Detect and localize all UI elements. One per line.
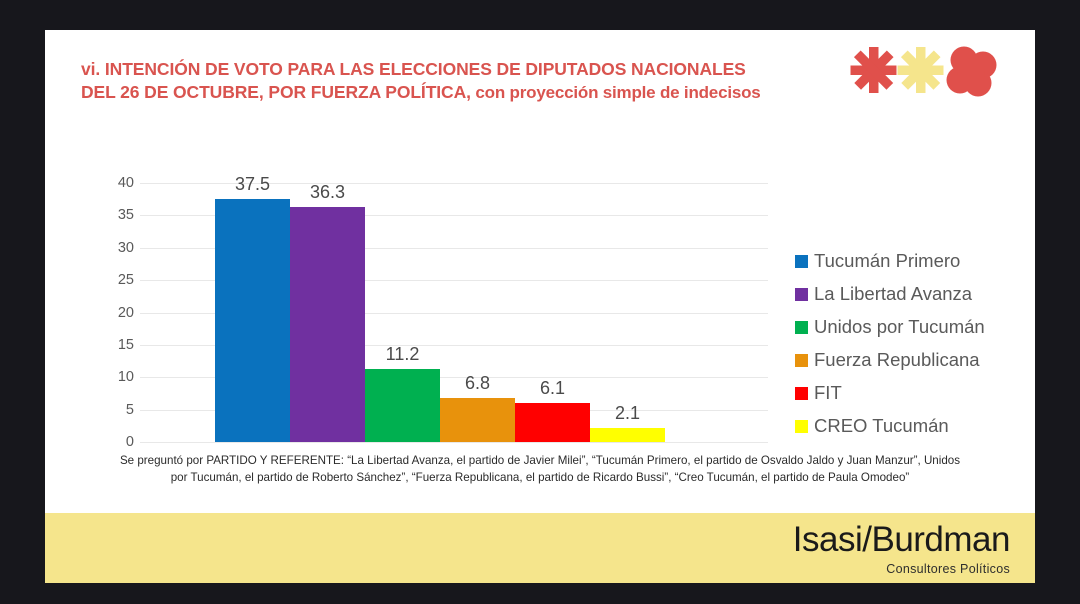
legend-swatch-icon (795, 354, 808, 367)
bar[interactable] (215, 199, 290, 442)
plot-area: 403530252015105037.536.311.26.86.12.1 (140, 183, 768, 442)
legend-item[interactable]: Fuerza Republicana (795, 344, 985, 377)
bar[interactable] (590, 428, 665, 442)
y-axis-tick-label: 5 (94, 403, 134, 418)
bar-slot: 6.1 (515, 183, 590, 442)
legend-item[interactable]: CREO Tucumán (795, 410, 985, 443)
bar[interactable] (365, 369, 440, 442)
legend-item-label: La Libertad Avanza (814, 285, 972, 304)
legend-swatch-icon (795, 288, 808, 301)
page-title: vi. INTENCIÓN DE VOTO PARA LAS ELECCIONE… (81, 58, 871, 104)
bar-chart: 403530252015105037.536.311.26.86.12.1 Tu… (45, 150, 1035, 480)
brand-subtitle: Consultores Políticos (793, 562, 1010, 576)
y-axis-tick-label: 0 (94, 435, 134, 450)
legend-swatch-icon (795, 420, 808, 433)
y-axis-tick-label: 15 (94, 338, 134, 353)
bar-slot: 2.1 (590, 183, 665, 442)
legend-item-label: CREO Tucumán (814, 417, 949, 436)
bar-series: 37.536.311.26.86.12.1 (215, 183, 665, 442)
title-line-1: vi. INTENCIÓN DE VOTO PARA LAS ELECCIONE… (81, 58, 871, 81)
bar-value-label: 2.1 (590, 404, 665, 422)
bar-value-label: 6.8 (440, 374, 515, 392)
bar-slot: 37.5 (215, 183, 290, 442)
bar[interactable] (440, 398, 515, 442)
y-axis-tick-label: 30 (94, 241, 134, 256)
y-axis-tick-label: 25 (94, 273, 134, 288)
legend-item-label: FIT (814, 384, 842, 403)
screenshot-root: vi. INTENCIÓN DE VOTO PARA LAS ELECCIONE… (0, 0, 1080, 604)
legend-swatch-icon (795, 255, 808, 268)
legend-item[interactable]: FIT (795, 377, 985, 410)
brand-block: Isasi/Burdman Consultores Políticos (793, 522, 1010, 576)
legend-item-label: Unidos por Tucumán (814, 318, 985, 337)
y-axis-tick-label: 10 (94, 370, 134, 385)
bar-slot: 6.8 (440, 183, 515, 442)
footer-band: Isasi/Burdman Consultores Políticos (45, 513, 1035, 583)
asterisk-yellow-icon (898, 47, 944, 93)
asterisk-red-icon (851, 47, 897, 93)
title-line-2-rest: con proyección simple de indecisos (471, 83, 761, 102)
legend-swatch-icon (795, 321, 808, 334)
bar-value-label: 36.3 (290, 183, 365, 201)
legend-item[interactable]: Unidos por Tucumán (795, 311, 985, 344)
legend-item-label: Tucumán Primero (814, 252, 960, 271)
title-line-2-bold: DEL 26 DE OCTUBRE, POR FUERZA POLÍTICA, (81, 82, 471, 102)
title-line-2: DEL 26 DE OCTUBRE, POR FUERZA POLÍTICA, … (81, 81, 871, 104)
bar-value-label: 37.5 (215, 175, 290, 193)
legend-item-label: Fuerza Republicana (814, 351, 980, 370)
bar-value-label: 6.1 (515, 379, 590, 397)
legend-swatch-icon (795, 387, 808, 400)
bar-slot: 36.3 (290, 183, 365, 442)
presentation-slide: vi. INTENCIÓN DE VOTO PARA LAS ELECCIONE… (45, 30, 1035, 583)
y-axis-tick-label: 20 (94, 306, 134, 321)
bar[interactable] (515, 403, 590, 442)
bar-slot: 11.2 (365, 183, 440, 442)
gridline (140, 442, 768, 443)
legend-item[interactable]: Tucumán Primero (795, 245, 985, 278)
decorative-logo-marks (850, 43, 1000, 101)
y-axis-tick-label: 35 (94, 208, 134, 223)
chart-footnote: Se preguntó por PARTIDO Y REFERENTE: “La… (110, 453, 970, 486)
bar-value-label: 11.2 (365, 345, 440, 363)
bar[interactable] (290, 207, 365, 442)
flower-red-icon (947, 47, 997, 97)
y-axis-tick-label: 40 (94, 176, 134, 191)
chart-legend: Tucumán PrimeroLa Libertad AvanzaUnidos … (795, 245, 985, 443)
brand-name: Isasi/Burdman (793, 522, 1010, 557)
legend-item[interactable]: La Libertad Avanza (795, 278, 985, 311)
